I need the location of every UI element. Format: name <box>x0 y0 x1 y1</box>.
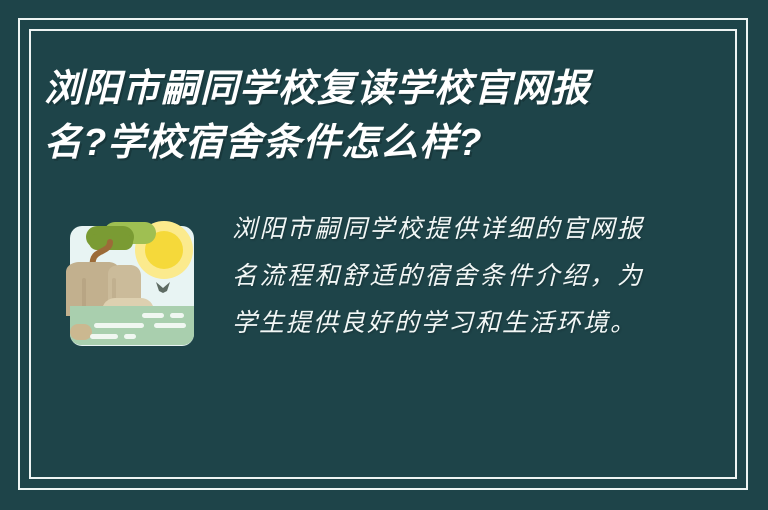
water-ripple-2 <box>170 313 184 318</box>
poster-canvas: 浏阳市嗣同学校复读学校官网报名?学校宿舍条件怎么样? <box>0 0 768 510</box>
water-ripple-5 <box>90 334 118 339</box>
illustration-svg <box>64 212 208 356</box>
water-stone-shape <box>70 324 92 340</box>
water-ripple-1 <box>142 313 164 318</box>
landscape-scene-illustration <box>64 212 208 356</box>
water-ripple-6 <box>124 334 136 339</box>
body-paragraph: 浏阳市嗣同学校提供详细的官网报名流程和舒适的宿舍条件介绍，为学生提供良好的学习和… <box>232 205 644 346</box>
water-ripple-4 <box>154 323 186 328</box>
rock-crevice-left-shape <box>82 278 86 308</box>
water-ripple-3 <box>94 323 144 328</box>
page-title: 浏阳市嗣同学校复读学校官网报名?学校宿舍条件怎么样? <box>44 62 644 170</box>
